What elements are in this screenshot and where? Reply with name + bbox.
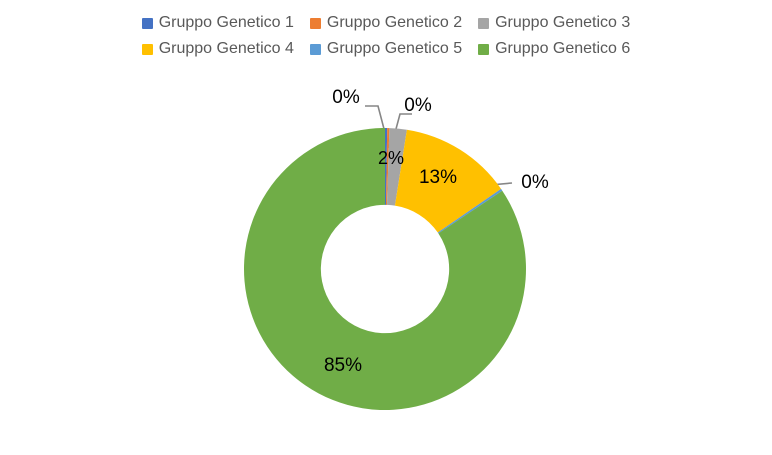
legend-swatch-icon-6 — [478, 44, 489, 55]
legend-label-3: Gruppo Genetico 3 — [495, 14, 630, 32]
legend-swatch-icon-3 — [478, 18, 489, 29]
legend-swatch-icon-5 — [310, 44, 321, 55]
data-label-gruppo-genetico-6: 85% — [324, 355, 362, 377]
legend-item-gruppo-genetico-3[interactable]: Gruppo Genetico 3 — [478, 14, 630, 32]
legend-label-6: Gruppo Genetico 6 — [495, 40, 630, 58]
legend-label-2: Gruppo Genetico 2 — [327, 14, 462, 32]
legend-item-gruppo-genetico-2[interactable]: Gruppo Genetico 2 — [310, 14, 462, 32]
data-label-gruppo-genetico-5: 0% — [521, 172, 548, 194]
legend-row-2: Gruppo Genetico 4 Gruppo Genetico 5 Grup… — [142, 40, 631, 58]
doughnut-slices-group — [244, 128, 526, 410]
data-label-gruppo-genetico-4: 13% — [419, 167, 457, 189]
data-label-gruppo-genetico-2: 0% — [404, 95, 431, 117]
doughnut-chart: Gruppo Genetico 1 Gruppo Genetico 2 Grup… — [0, 0, 772, 455]
legend-swatch-icon-2 — [310, 18, 321, 29]
legend-item-gruppo-genetico-6[interactable]: Gruppo Genetico 6 — [478, 40, 630, 58]
legend-item-gruppo-genetico-4[interactable]: Gruppo Genetico 4 — [142, 40, 294, 58]
legend-label-5: Gruppo Genetico 5 — [327, 40, 462, 58]
legend-item-gruppo-genetico-1[interactable]: Gruppo Genetico 1 — [142, 14, 294, 32]
data-label-gruppo-genetico-3: 2% — [378, 147, 404, 169]
legend-label-4: Gruppo Genetico 4 — [159, 40, 294, 58]
legend-row-1: Gruppo Genetico 1 Gruppo Genetico 2 Grup… — [142, 14, 631, 32]
plot-area: 0% 0% 2% 13% 0% 85% — [0, 78, 772, 455]
doughnut-svg — [0, 78, 772, 455]
legend-label-1: Gruppo Genetico 1 — [159, 14, 294, 32]
data-label-gruppo-genetico-1: 0% — [332, 87, 359, 109]
chart-legend: Gruppo Genetico 1 Gruppo Genetico 2 Grup… — [0, 14, 772, 58]
legend-swatch-icon-4 — [142, 44, 153, 55]
legend-swatch-icon-1 — [142, 18, 153, 29]
legend-item-gruppo-genetico-5[interactable]: Gruppo Genetico 5 — [310, 40, 462, 58]
